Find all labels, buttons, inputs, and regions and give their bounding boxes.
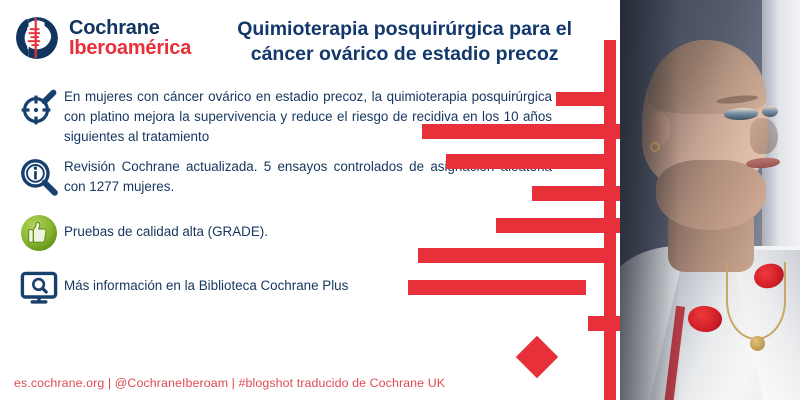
photo-nose	[750, 118, 778, 154]
footer-credits[interactable]: es.cochrane.org | @CochraneIberoam | #bl…	[14, 376, 445, 390]
photo-eye-right	[762, 106, 778, 117]
logo-name-line2: Iberoamérica	[69, 38, 191, 58]
list-item: Revisión Cochrane actualizada. 5 ensayos…	[14, 156, 574, 200]
list-item: Pruebas de calidad alta (GRADE).	[14, 212, 574, 256]
forest-plot-diamond	[516, 336, 558, 378]
list-item-label: En mujeres con cáncer ovárico en estadio…	[64, 86, 574, 146]
list-item-label: Pruebas de calidad alta (GRADE).	[64, 212, 574, 242]
photo-shadow-overlay	[620, 0, 680, 400]
forest-plot-spine	[604, 40, 616, 400]
magnifier-info-icon	[14, 156, 64, 200]
page-title: Quimioterapia posquirúrgica para el cánc…	[217, 17, 592, 66]
list-item[interactable]: Más información en la Biblioteca Cochran…	[14, 266, 574, 310]
thumbs-up-icon	[14, 212, 64, 256]
key-messages-list: En mujeres con cáncer ovárico en estadio…	[14, 86, 574, 320]
woman-with-shaved-head-photo	[620, 0, 800, 400]
monitor-search-icon	[14, 266, 64, 310]
cochrane-logo[interactable]: Cochrane Iberoamérica	[14, 15, 191, 61]
header: Cochrane Iberoamérica Quimioterapia posq…	[14, 8, 600, 80]
list-item-label: Revisión Cochrane actualizada. 5 ensayos…	[64, 156, 574, 197]
logo-wordmark: Cochrane Iberoamérica	[69, 18, 191, 59]
target-crosshair-icon	[14, 86, 64, 130]
cochrane-blogshot: Cochrane Iberoamérica Quimioterapia posq…	[0, 0, 800, 400]
logo-name-line1: Cochrane	[69, 18, 191, 38]
list-item-label: Más información en la Biblioteca Cochran…	[64, 266, 574, 296]
list-item: En mujeres con cáncer ovárico en estadio…	[14, 86, 574, 146]
cochrane-logo-icon	[14, 15, 60, 61]
photo-pendant	[750, 336, 765, 351]
